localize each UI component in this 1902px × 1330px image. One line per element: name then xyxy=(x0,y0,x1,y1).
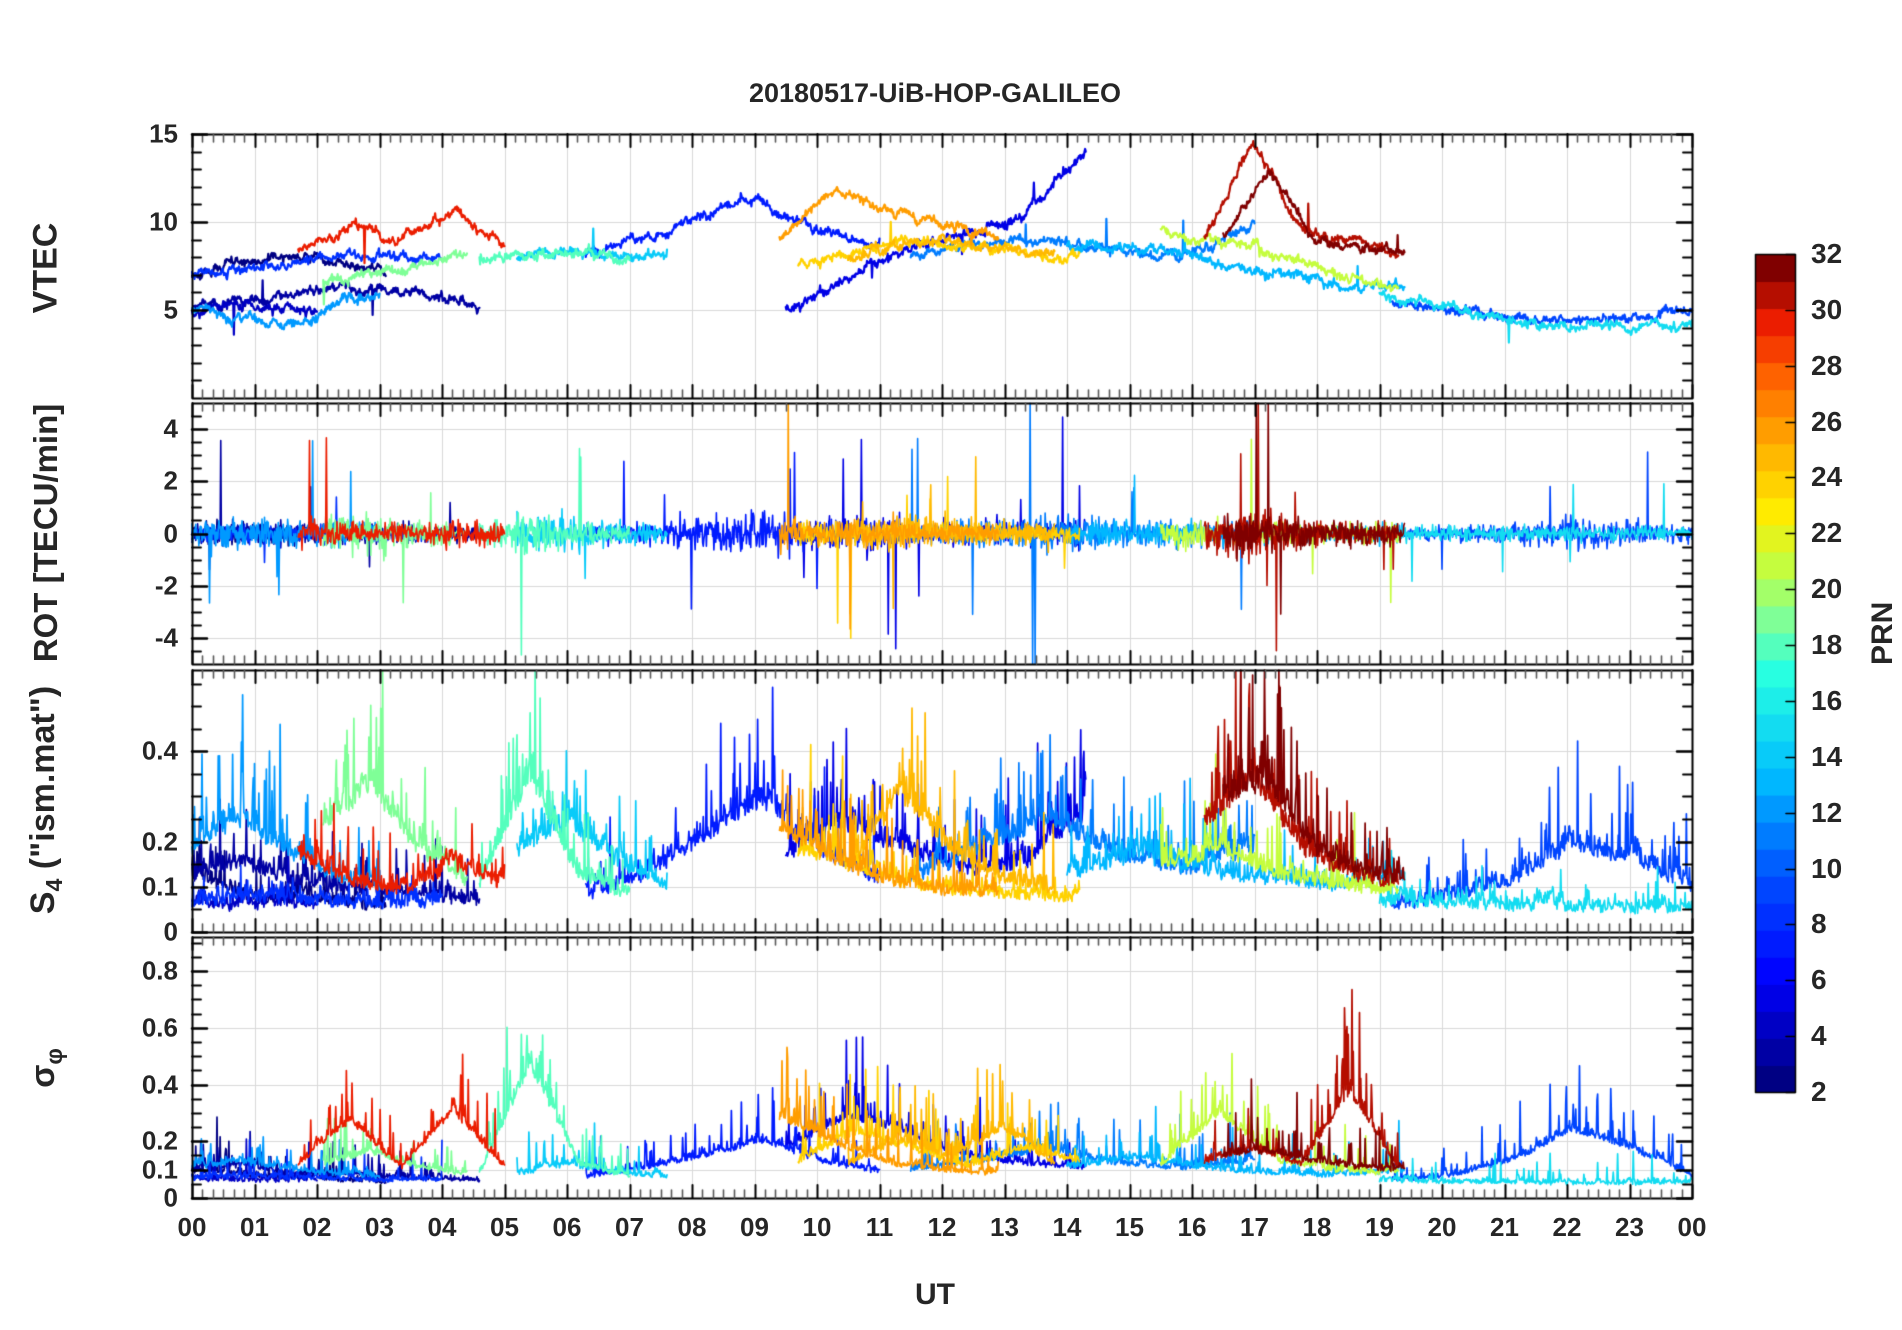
plot-canvas xyxy=(0,0,1902,1330)
colorbar-tick-label-20: 20 xyxy=(1811,573,1842,605)
y-tick-label-rot-2: 0 xyxy=(60,518,178,549)
y-tick-label-sigma-phi-1: 0.1 xyxy=(60,1154,178,1185)
y-tick-label-s4-2: 0.2 xyxy=(60,826,178,857)
x-tick-label-2: 02 xyxy=(303,1212,332,1243)
x-axis-label: UT xyxy=(180,1278,1690,1312)
y-tick-label-vtec-2: 15 xyxy=(60,119,178,150)
x-tick-label-21: 21 xyxy=(1490,1212,1519,1243)
x-tick-label-6: 06 xyxy=(553,1212,582,1243)
y-tick-label-s4-1: 0.1 xyxy=(60,871,178,902)
y-tick-label-rot-0: -4 xyxy=(60,622,178,653)
colorbar-tick-label-12: 12 xyxy=(1811,797,1842,829)
y-tick-label-rot-3: 2 xyxy=(60,466,178,497)
colorbar-tick-label-24: 24 xyxy=(1811,461,1842,493)
x-tick-label-15: 15 xyxy=(1115,1212,1144,1243)
x-tick-label-7: 07 xyxy=(615,1212,644,1243)
colorbar-tick-label-2: 2 xyxy=(1811,1076,1827,1108)
x-tick-label-1: 01 xyxy=(240,1212,269,1243)
y-tick-label-sigma-phi-0: 0 xyxy=(60,1183,178,1214)
figure-root: 20180517-UiB-HOP-GALILEO 51015-4-202400.… xyxy=(0,0,1902,1330)
colorbar-tick-label-16: 16 xyxy=(1811,685,1842,717)
y-axis-label-sigma-phi: σφ xyxy=(24,1048,68,1088)
y-tick-label-sigma-phi-2: 0.2 xyxy=(60,1126,178,1157)
x-tick-label-17: 17 xyxy=(1240,1212,1269,1243)
x-tick-label-18: 18 xyxy=(1303,1212,1332,1243)
y-tick-label-rot-1: -2 xyxy=(60,570,178,601)
colorbar-tick-label-28: 28 xyxy=(1811,350,1842,382)
x-tick-label-19: 19 xyxy=(1365,1212,1394,1243)
y-tick-label-sigma-phi-5: 0.8 xyxy=(60,956,178,987)
x-tick-label-11: 11 xyxy=(866,1212,894,1243)
y-tick-label-sigma-phi-4: 0.6 xyxy=(60,1012,178,1043)
x-tick-label-4: 04 xyxy=(428,1212,457,1243)
colorbar-tick-label-10: 10 xyxy=(1811,853,1842,885)
y-axis-label-rot: ROT [TECU/min] xyxy=(27,404,65,662)
colorbar-tick-label-30: 30 xyxy=(1811,294,1842,326)
x-tick-label-12: 12 xyxy=(928,1212,957,1243)
colorbar-tick-label-18: 18 xyxy=(1811,629,1842,661)
colorbar-tick-label-26: 26 xyxy=(1811,406,1842,438)
y-tick-label-rot-4: 4 xyxy=(60,414,178,445)
colorbar-tick-label-8: 8 xyxy=(1811,908,1827,940)
colorbar-tick-label-6: 6 xyxy=(1811,964,1827,996)
x-tick-label-8: 08 xyxy=(678,1212,707,1243)
x-tick-label-13: 13 xyxy=(990,1212,1019,1243)
y-tick-label-s4-3: 0.4 xyxy=(60,736,178,767)
x-tick-label-23: 23 xyxy=(1615,1212,1644,1243)
x-tick-label-10: 10 xyxy=(803,1212,832,1243)
page-title: 20180517-UiB-HOP-GALILEO xyxy=(180,78,1690,109)
colorbar-tick-label-4: 4 xyxy=(1811,1020,1827,1052)
y-tick-label-s4-0: 0 xyxy=(60,917,178,948)
x-tick-label-22: 22 xyxy=(1553,1212,1582,1243)
y-tick-label-vtec-0: 5 xyxy=(60,295,178,326)
y-tick-label-sigma-phi-3: 0.4 xyxy=(60,1069,178,1100)
colorbar-tick-label-22: 22 xyxy=(1811,517,1842,549)
y-axis-label-s4: S4 ("ism.mat") xyxy=(24,686,68,914)
x-tick-label-24: 00 xyxy=(1678,1212,1707,1243)
colorbar-tick-label-32: 32 xyxy=(1811,238,1842,270)
x-tick-label-9: 09 xyxy=(740,1212,769,1243)
y-axis-label-vtec: VTEC xyxy=(27,223,66,314)
colorbar-label: PRN xyxy=(1866,602,1900,665)
y-tick-label-vtec-1: 10 xyxy=(60,207,178,238)
x-tick-label-3: 03 xyxy=(365,1212,394,1243)
colorbar-tick-label-14: 14 xyxy=(1811,741,1842,773)
x-tick-label-5: 05 xyxy=(490,1212,519,1243)
x-tick-label-14: 14 xyxy=(1053,1212,1082,1243)
x-tick-label-20: 20 xyxy=(1428,1212,1457,1243)
x-tick-label-16: 16 xyxy=(1178,1212,1207,1243)
x-tick-label-0: 00 xyxy=(178,1212,207,1243)
